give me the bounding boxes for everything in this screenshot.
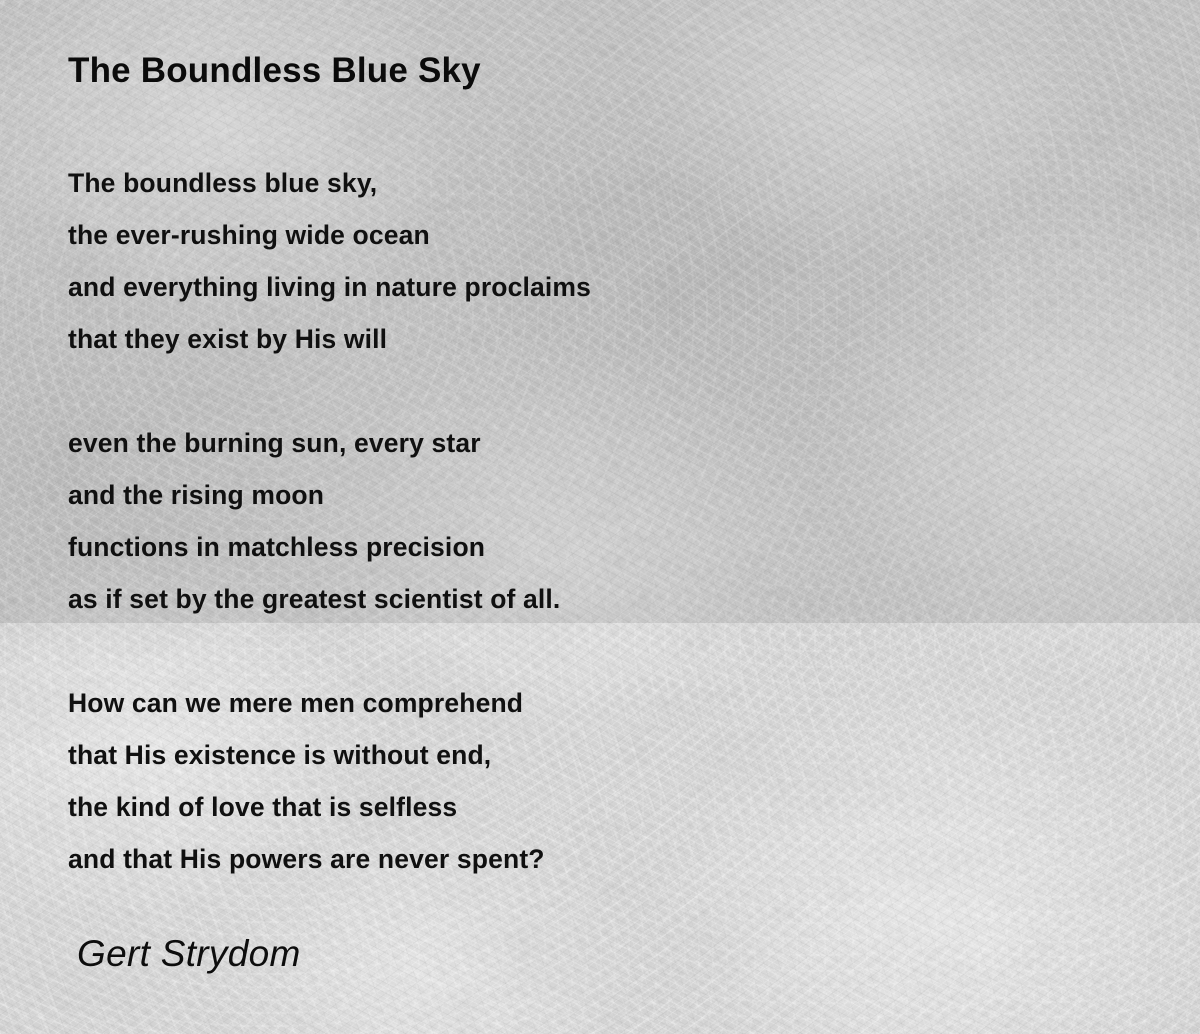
poem-line: the ever-rushing wide ocean	[68, 209, 591, 261]
poem-line: that His existence is without end,	[68, 729, 545, 781]
poem-line: as if set by the greatest scientist of a…	[68, 573, 560, 625]
poem-stanza-2: even the burning sun, every star and the…	[68, 417, 560, 625]
poem-line: the kind of love that is selfless	[68, 781, 545, 833]
poem-line: and the rising moon	[68, 469, 560, 521]
poem-line: The boundless blue sky,	[68, 157, 591, 209]
poem-line: How can we mere men comprehend	[68, 677, 545, 729]
poem-title: The Boundless Blue Sky	[68, 52, 481, 91]
poem-line: functions in matchless precision	[68, 521, 560, 573]
poem-line: and that His powers are never spent?	[68, 833, 545, 885]
poem-content: The Boundless Blue Sky The boundless blu…	[0, 0, 1200, 1034]
poem-stanza-1: The boundless blue sky, the ever-rushing…	[68, 157, 591, 365]
poem-line: even the burning sun, every star	[68, 417, 560, 469]
poem-image-canvas: The Boundless Blue Sky The boundless blu…	[0, 0, 1200, 1034]
poem-line: that they exist by His will	[68, 313, 591, 365]
poem-author-signature: Gert Strydom	[77, 933, 301, 975]
poem-line: and everything living in nature proclaim…	[68, 261, 591, 313]
poem-stanza-3: How can we mere men comprehend that His …	[68, 677, 545, 885]
